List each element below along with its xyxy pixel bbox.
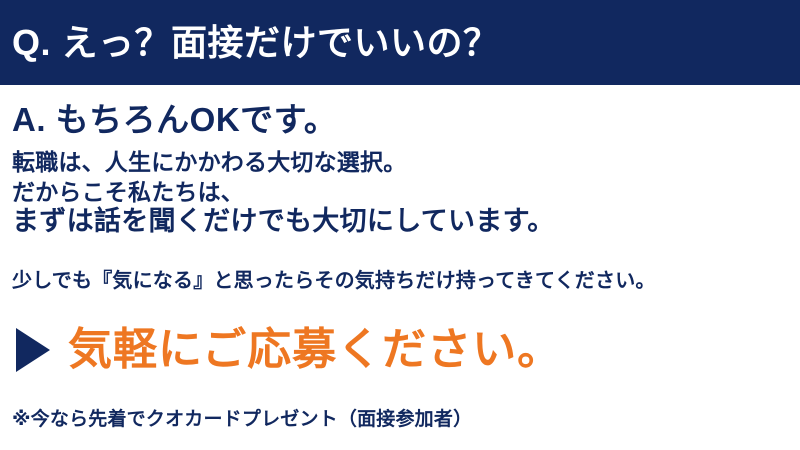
header-banner: Q. えっ？面接だけでいいの？ xyxy=(0,0,800,85)
answer-highlight-line: まずは話を聞くだけでも大切にしています。 xyxy=(12,208,555,235)
cta-text[interactable]: 気軽にご応募ください。 xyxy=(68,328,562,372)
cta-row[interactable]: 気軽にご応募ください。 xyxy=(16,328,562,372)
answer-invitation-line: 少しでも『気になる』と思ったらその気持ちだけ持ってきてください。 xyxy=(12,271,656,291)
answer-paragraph-line-1: 転職は、人生にかかわる大切な選択。 xyxy=(12,147,406,177)
answer-headline: A. もちろんOKです。 xyxy=(12,103,337,136)
body-area: A. もちろんOKです。 転職は、人生にかかわる大切な選択。 だからこそ私たちは… xyxy=(0,85,800,450)
triangle-right-icon xyxy=(16,328,50,372)
slide-root: Q. えっ？面接だけでいいの？ A. もちろんOKです。 転職は、人生にかかわる… xyxy=(0,0,800,450)
answer-paragraph-line-2: だからこそ私たちは、 xyxy=(12,177,406,207)
footnote-text: ※今なら先着でクオカードプレゼント（面接参加者） xyxy=(12,410,472,429)
header-question-text: Q. えっ？面接だけでいいの？ xyxy=(0,25,500,61)
answer-paragraph: 転職は、人生にかかわる大切な選択。 だからこそ私たちは、 xyxy=(12,147,406,208)
